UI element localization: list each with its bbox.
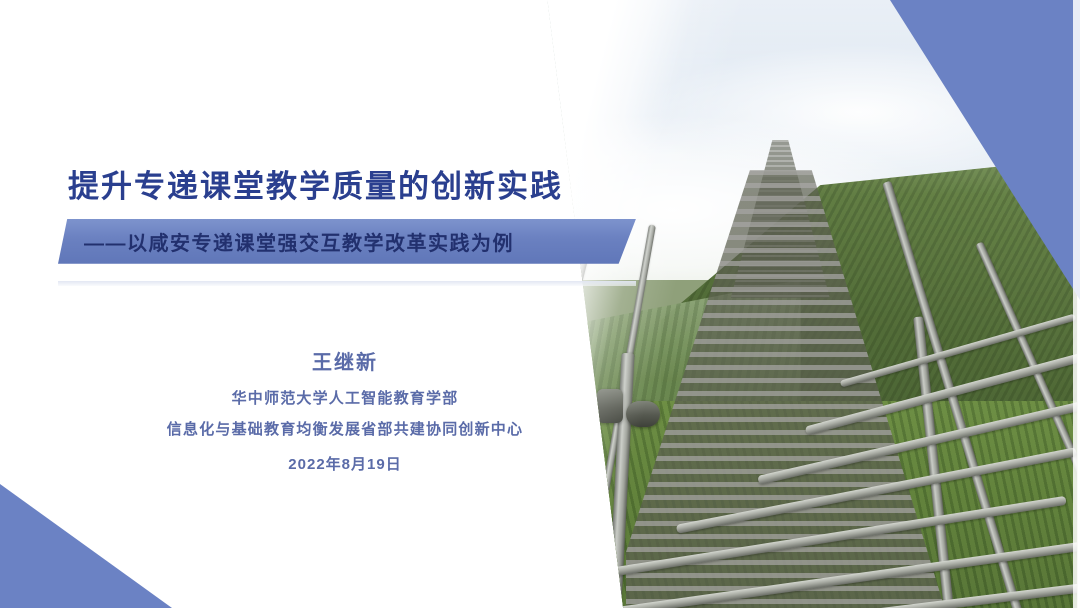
subtitle-banner: ——以咸安专递课堂强交互教学改革实践为例 [58,219,636,264]
page-title: 提升专递课堂教学质量的创新实践 [68,168,660,207]
affiliation-secondary: 信息化与基础教育均衡发展省部共建协同创新中心 [0,418,690,439]
author-block: 王继新 华中师范大学人工智能教育学部 信息化与基础教育均衡发展省部共建协同创新中… [0,346,690,474]
presentation-date: 2022年8月19日 [0,453,690,474]
subtitle-underline [58,281,636,286]
subtitle-text: ——以咸安专递课堂强交互教学改革实践为例 [84,227,514,256]
title-slide: 提升专递课堂教学质量的创新实践 ——以咸安专递课堂强交互教学改革实践为例 王继新… [0,0,1080,608]
decor-triangle-bottom-left [0,484,172,608]
author-name: 王继新 [0,346,690,375]
title-block: 提升专递课堂教学质量的创新实践 ——以咸安专递课堂强交互教学改革实践为例 [0,168,660,264]
affiliation-primary: 华中师范大学人工智能教育学部 [0,387,690,408]
decor-right-edge-strip [1073,0,1080,608]
